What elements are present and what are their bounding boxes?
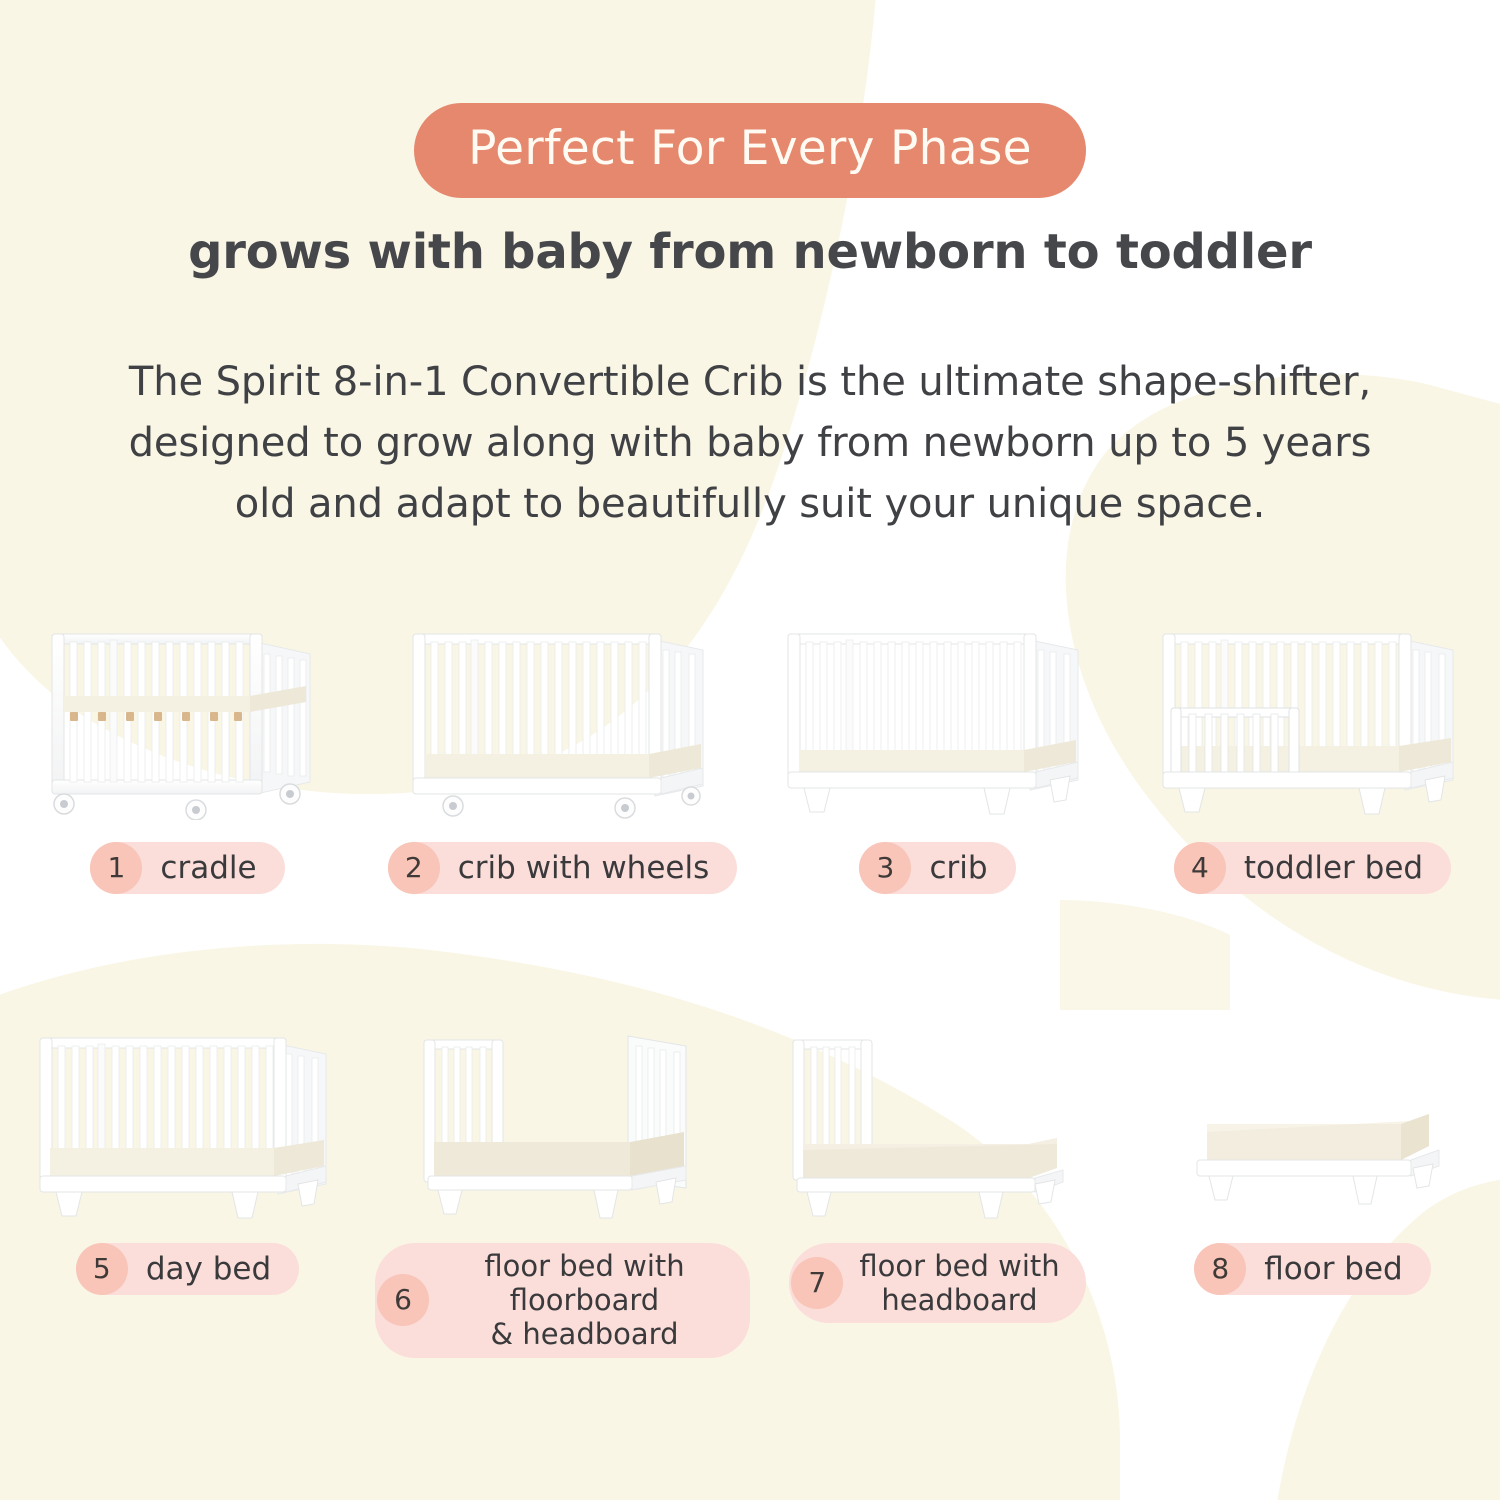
label-slot: 7 floor bed with headboard: [789, 1243, 1085, 1323]
day-bed-icon: [28, 1020, 348, 1225]
config-label-4: toddler bed: [1226, 850, 1451, 887]
config-pill-8: 8 floor bed: [1194, 1243, 1431, 1295]
floor-bed-illustration-wrap: [1163, 1020, 1463, 1225]
configuration-row-2: 5 day bed: [0, 1020, 1500, 1360]
infographic-root: Perfect For Every Phase grows with baby …: [0, 0, 1500, 1500]
day-bed-illustration-wrap: [28, 1020, 348, 1225]
config-label-6: floor bed with floorboard & headboard: [429, 1243, 750, 1358]
label-slot: 1 cradle: [90, 842, 284, 894]
config-label-8: floor bed: [1246, 1251, 1431, 1288]
config-number-5: 5: [76, 1243, 128, 1295]
config-label-1: cradle: [142, 850, 284, 887]
label-slot: 5 day bed: [76, 1243, 299, 1295]
badge-container: Perfect For Every Phase: [0, 103, 1500, 198]
crib-wheels-illustration-wrap: [403, 620, 723, 820]
crib-illustration-wrap: [778, 620, 1098, 820]
config-label-5: day bed: [128, 1251, 299, 1288]
config-number-7: 7: [791, 1257, 843, 1309]
floor-bed-both-illustration-wrap: [398, 1020, 728, 1225]
config-pill-5: 5 day bed: [76, 1243, 299, 1295]
configuration-item-day-bed: 5 day bed: [0, 1020, 375, 1360]
config-pill-1: 1 cradle: [90, 842, 284, 894]
label-slot: 2 crib with wheels: [388, 842, 737, 894]
floor-bed-with-floorboard-and-headboard-icon: [398, 1020, 728, 1225]
label-slot: 8 floor bed: [1194, 1243, 1431, 1295]
config-pill-7: 7 floor bed with headboard: [789, 1243, 1085, 1323]
config-number-4: 4: [1174, 842, 1226, 894]
config-number-3: 3: [859, 842, 911, 894]
configuration-item-crib-wheels: 2 crib with wheels: [375, 620, 750, 930]
config-number-8: 8: [1194, 1243, 1246, 1295]
page-subtitle: grows with baby from newborn to toddler: [0, 224, 1500, 282]
toddler-bed-illustration-wrap: [1153, 620, 1473, 820]
toddler-bed-icon: [1153, 620, 1473, 820]
configuration-item-floor-bed: 8 floor bed: [1125, 1020, 1500, 1360]
page-description: The Spirit 8-in-1 Convertible Crib is th…: [105, 352, 1395, 534]
label-slot: 6 floor bed with floorboard & headboard: [375, 1243, 750, 1358]
config-number-1: 1: [90, 842, 142, 894]
crib-with-wheels-icon: [403, 620, 723, 820]
config-label-2: crib with wheels: [440, 850, 737, 887]
config-label-7: floor bed with headboard: [843, 1243, 1085, 1323]
floor-bed-head-illustration-wrap: [773, 1020, 1103, 1225]
cradle-illustration-wrap: [38, 620, 338, 820]
header-badge: Perfect For Every Phase: [414, 103, 1086, 198]
configuration-item-crib: 3 crib: [750, 620, 1125, 930]
configuration-item-floor-bed-both: 6 floor bed with floorboard & headboard: [375, 1020, 750, 1360]
config-number-6: 6: [377, 1274, 429, 1326]
label-slot: 3 crib: [859, 842, 1015, 894]
config-label-3: crib: [911, 850, 1015, 887]
config-number-2: 2: [388, 842, 440, 894]
config-pill-3: 3 crib: [859, 842, 1015, 894]
cradle-icon: [38, 620, 338, 820]
configuration-item-floor-bed-head: 7 floor bed with headboard: [750, 1020, 1125, 1360]
configuration-row-1: 1 cradle: [0, 620, 1500, 930]
floor-bed-with-headboard-icon: [773, 1020, 1103, 1225]
configuration-item-cradle: 1 cradle: [0, 620, 375, 930]
config-pill-2: 2 crib with wheels: [388, 842, 737, 894]
config-pill-4: 4 toddler bed: [1174, 842, 1451, 894]
configuration-item-toddler-bed: 4 toddler bed: [1125, 620, 1500, 930]
label-slot: 4 toddler bed: [1174, 842, 1451, 894]
floor-bed-icon: [1163, 1020, 1463, 1225]
config-pill-6: 6 floor bed with floorboard & headboard: [375, 1243, 750, 1358]
crib-icon: [778, 620, 1098, 820]
